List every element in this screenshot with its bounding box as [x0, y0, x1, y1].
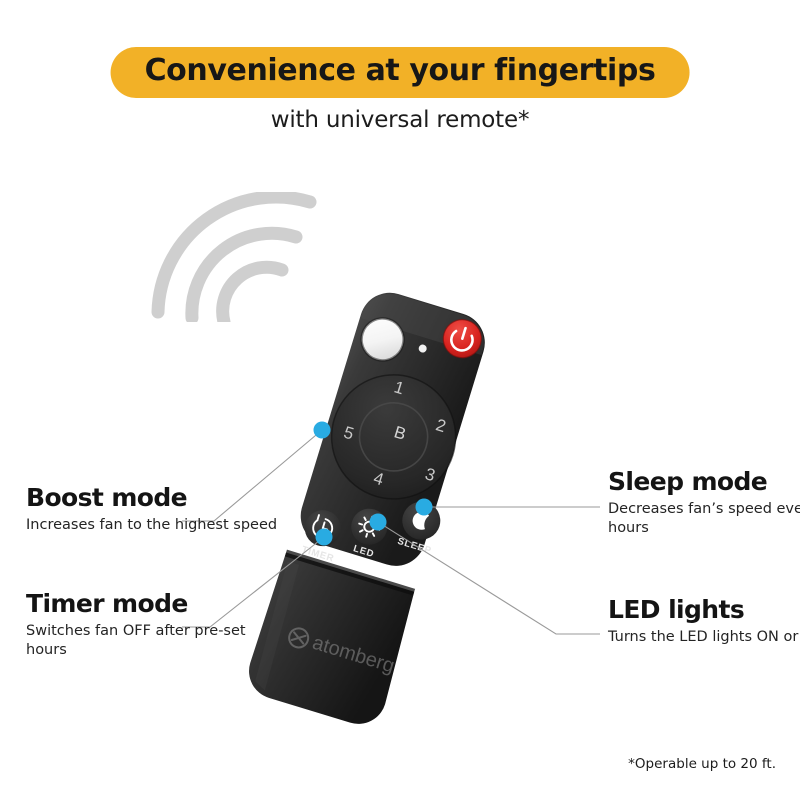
callout-sleep-title: Sleep mode [608, 468, 800, 496]
callout-boost: Boost mode Increases fan to the highest … [26, 484, 286, 535]
callout-sleep: Sleep mode Decreases fan’s speed every t… [608, 468, 800, 538]
callout-boost-title: Boost mode [26, 484, 286, 512]
header-banner: Convenience at your fingertips [111, 47, 690, 98]
callout-timer: Timer mode Switches fan OFF after pre-se… [26, 590, 286, 660]
page-subtitle: with universal remote* [0, 107, 800, 133]
footnote: *Operable up to 20 ft. [628, 756, 776, 772]
callout-led-desc: Turns the LED lights ON or OFF [608, 628, 800, 647]
callout-timer-title: Timer mode [26, 590, 286, 618]
callout-led-title: LED lights [608, 596, 800, 624]
callout-timer-desc: Switches fan OFF after pre-set hours [26, 622, 286, 661]
callout-boost-desc: Increases fan to the highest speed [26, 516, 286, 535]
callout-sleep-desc: Decreases fan’s speed every two hours [608, 500, 800, 539]
page-title: Convenience at your fingertips [145, 53, 656, 88]
callout-led: LED lights Turns the LED lights ON or OF… [608, 596, 800, 647]
